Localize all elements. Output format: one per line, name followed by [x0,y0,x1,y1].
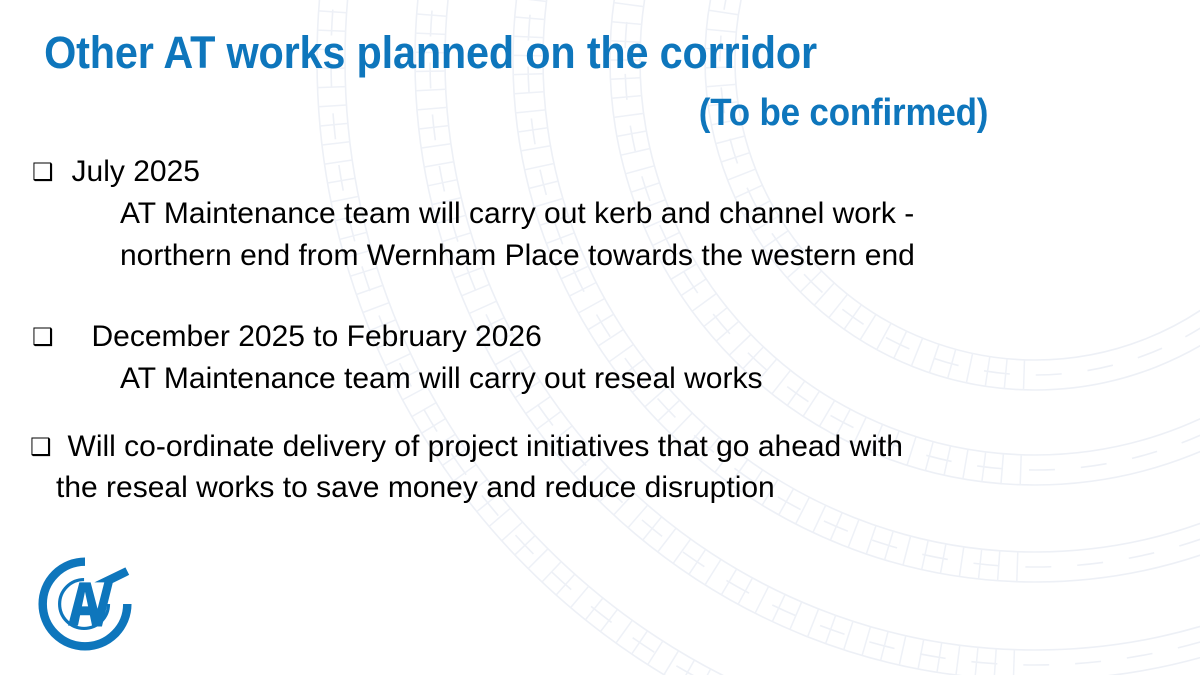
bullet-detail-line: the reseal works to save money and reduc… [56,467,1180,508]
bullet-heading: July 2025 [72,152,200,192]
slide-title: Other AT works planned on the corridor (… [0,26,1060,136]
bullet-detail-line: northern end from Wernham Place towards … [120,235,1180,276]
bullet-heading-row: ❑ July 2025 [32,152,1180,192]
at-logo [38,557,132,651]
bullet-heading: Will co-ordinate delivery of project ini… [68,427,903,467]
bullet-detail-line: AT Maintenance team will carry out resea… [120,358,1180,399]
bullet-group-coordinate-delivery: ❑ Will co-ordinate delivery of project i… [30,427,1180,508]
bullet-heading: December 2025 to February 2026 [92,317,542,357]
slide-body: ❑ July 2025 AT Maintenance team will car… [0,152,1180,508]
bullet-heading-row: ❑ Will co-ordinate delivery of project i… [30,427,1180,467]
square-bullet-icon: ❑ [32,152,54,192]
square-bullet-icon: ❑ [32,317,54,357]
bullet-group-dec-2025-feb-2026: ❑ December 2025 to February 2026 AT Main… [32,317,1180,399]
title-line-secondary: (To be confirmed) [85,90,1060,136]
title-line-primary: Other AT works planned on the corridor [0,26,975,80]
slide-canvas: Other AT works planned on the corridor (… [0,0,1200,675]
bullet-detail-line: AT Maintenance team will carry out kerb … [120,193,1180,234]
bullet-heading-row: ❑ December 2025 to February 2026 [32,317,1180,357]
square-bullet-icon: ❑ [30,427,52,467]
bullet-group-july-2025: ❑ July 2025 AT Maintenance team will car… [32,152,1180,276]
